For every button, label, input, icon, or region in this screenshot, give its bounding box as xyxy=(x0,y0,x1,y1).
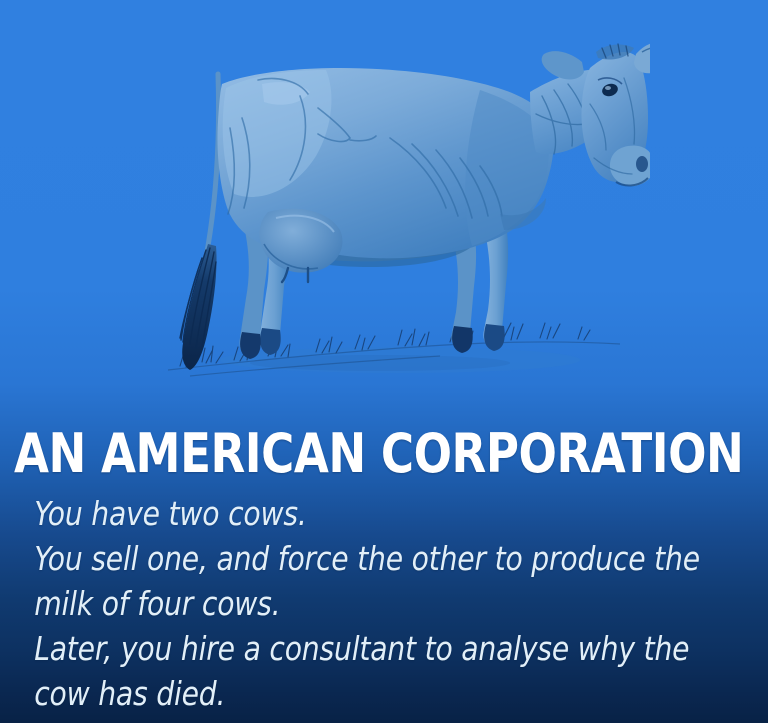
body-line: You sell one, and force the other to pro… xyxy=(34,536,718,581)
meme-body-text: You have two cows. You sell one, and for… xyxy=(0,491,730,716)
meme-title: AN AMERICAN CORPORATION xyxy=(0,425,714,483)
body-line: cow has died. xyxy=(34,671,718,716)
meme-card: AN AMERICAN CORPORATION You have two cow… xyxy=(0,0,768,723)
body-line: You have two cows. xyxy=(34,491,718,536)
body-line: milk of four cows. xyxy=(34,581,718,626)
cow-tail-group xyxy=(180,74,219,370)
cow-illustration xyxy=(150,18,650,390)
caption-block: AN AMERICAN CORPORATION You have two cow… xyxy=(0,425,768,716)
cow-ear-far xyxy=(542,51,584,79)
nostril-shape xyxy=(636,156,648,172)
body-line: Later, you hire a consultant to analyse … xyxy=(34,626,718,671)
